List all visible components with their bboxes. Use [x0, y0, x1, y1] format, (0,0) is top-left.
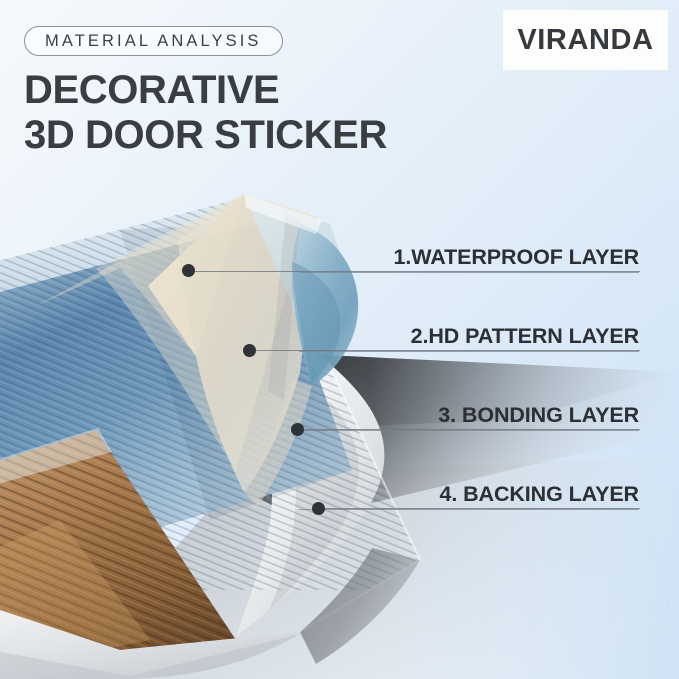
callout-backing-layer: 4. BACKING LAYER	[299, 482, 639, 510]
leader-line-2	[256, 350, 640, 351]
material-analysis-badge: MATERIAL ANALYSIS	[24, 26, 283, 56]
callout-rule-1	[299, 272, 639, 273]
page-title: DECORATIVE 3D DOOR STICKER	[24, 68, 454, 158]
title-line-1: DECORATIVE	[24, 68, 454, 113]
callout-label-2: 2.HD PATTERN LAYER	[299, 324, 639, 348]
title-line-2: 3D DOOR STICKER	[24, 113, 454, 158]
callout-label-4: 4. BACKING LAYER	[299, 482, 639, 506]
badge-label: MATERIAL ANALYSIS	[45, 32, 262, 51]
callout-waterproof-layer: 1.WATERPROOF LAYER	[299, 245, 639, 273]
brand-name: VIRANDA	[517, 24, 653, 57]
leader-line-3	[304, 429, 640, 430]
leader-line-1	[195, 271, 640, 272]
callout-hd-pattern-layer: 2.HD PATTERN LAYER	[299, 324, 639, 352]
callout-bonding-layer: 3. BONDING LAYER	[299, 403, 639, 431]
callout-rule-2	[299, 351, 639, 352]
callout-rule-3	[299, 430, 639, 431]
callout-label-3: 3. BONDING LAYER	[299, 403, 639, 427]
infographic-canvas: MATERIAL ANALYSIS VIRANDA DECORATIVE 3D …	[0, 0, 679, 679]
callout-rule-4	[299, 509, 639, 510]
leader-dot-1	[182, 264, 195, 277]
leader-dot-2	[243, 344, 256, 357]
brand-logo-box: VIRANDA	[503, 10, 668, 70]
leader-line-4	[325, 508, 640, 509]
callout-label-1: 1.WATERPROOF LAYER	[299, 245, 639, 269]
leader-dot-3	[291, 423, 304, 436]
leader-dot-4	[312, 502, 325, 515]
